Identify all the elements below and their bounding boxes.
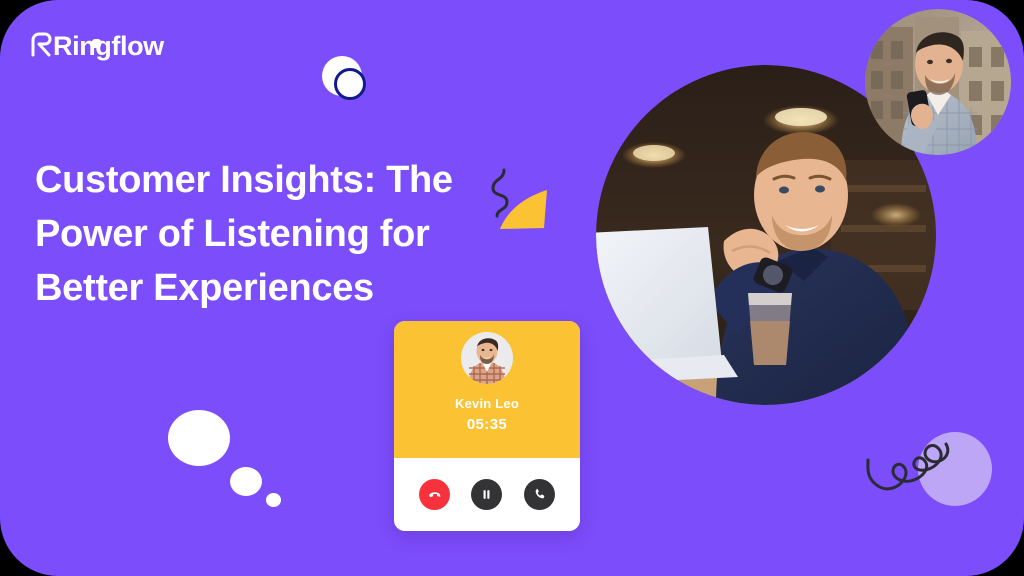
end-call-button[interactable] — [419, 479, 450, 510]
call-duration: 05:35 — [467, 416, 507, 433]
pause-icon — [480, 488, 493, 501]
call-controls — [394, 458, 580, 531]
bubble-large-shape — [168, 410, 230, 466]
phone-hangup-icon — [427, 487, 442, 502]
inset-photo-man-with-phone — [865, 9, 1011, 155]
logo-o-dot-icon — [92, 39, 101, 48]
banner-canvas: Ringflow Customer Insights: The Power of… — [0, 0, 1024, 576]
caller-name: Kevin Leo — [455, 396, 519, 411]
squiggle-kite-icon — [484, 166, 558, 247]
ring-circle-icon — [330, 62, 374, 106]
answer-call-button[interactable] — [524, 479, 555, 510]
call-card-header: Kevin Leo 05:35 — [394, 321, 580, 458]
bubble-medium-shape — [230, 467, 262, 496]
phone-icon — [532, 487, 547, 502]
page-title: Customer Insights: The Power of Listenin… — [35, 153, 505, 315]
brand-logo[interactable]: Ringflow — [30, 29, 164, 63]
bubble-small-shape — [266, 493, 281, 507]
hold-call-button[interactable] — [471, 479, 502, 510]
ring-outline-shape — [334, 68, 366, 100]
active-call-card: Kevin Leo 05:35 — [394, 321, 580, 531]
brand-name: Ringflow — [53, 33, 164, 60]
avatar — [461, 332, 513, 384]
ringflow-r-mark-icon — [30, 31, 52, 62]
